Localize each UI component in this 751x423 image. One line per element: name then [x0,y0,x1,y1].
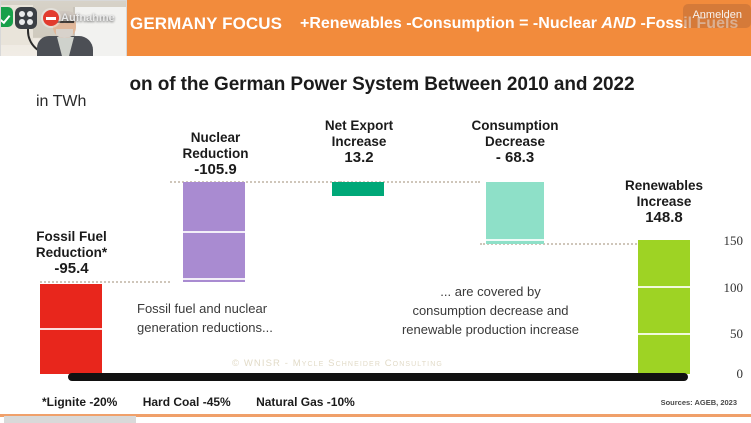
y-tick-0: 0 [737,366,744,382]
sign-in-button[interactable]: Anmelden [683,4,751,28]
bar-value-nuclear-reduction: -105.9 [158,162,273,178]
annotation-left-line1: Fossil fuel and nuclear [137,301,267,316]
bar-label-line1: Fossil Fuel [36,229,107,244]
record-icon[interactable] [43,10,59,26]
check-icon[interactable] [0,7,13,27]
bar-label-line1: Nuclear [191,130,241,145]
annotation-right-line2: consumption decrease and [412,303,568,318]
bottom-tab-placeholder[interactable] [4,416,136,423]
footnote-lignite: *Lignite -20% [42,395,117,409]
bar-label-line2: Reduction* [36,245,107,260]
bar-value-renewables-increase: 148.8 [600,210,728,226]
grid-dot [27,19,33,25]
bar-label-line2: Reduction [183,146,249,161]
annotation-right-line3: renewable production increase [402,322,579,337]
bar-gridline [40,328,102,330]
grid-dot [27,11,33,17]
bar-gridline [183,231,245,233]
bar-gridline [486,239,544,241]
bar-gridline [638,286,690,288]
bar-gridline [638,333,690,335]
bar-net-export-increase[interactable] [332,182,384,196]
bar-label-net-export-increase: Net Export Increase 13.2 [300,118,418,166]
sources-label: Sources: AGEB, 2023 [661,398,737,407]
footnote-hard-coal: Hard Coal -45% [143,395,231,409]
annotation-left-line2: generation reductions... [137,320,273,335]
banner-equation: +Renewables -Consumption = -Nuclear AND … [300,15,738,33]
annotation-left: Fossil fuel and nuclear generation reduc… [137,299,337,337]
footnote-natural-gas: Natural Gas -10% [256,395,355,409]
bar-value-net-export-increase: 13.2 [300,150,418,166]
bar-label-line2: Increase [332,134,387,149]
equation-pre: +Renewables -Consumption = -Nuclear [300,15,601,32]
bar-label-consumption-decrease: Consumption Decrease - 68.3 [450,118,580,166]
bar-label-line1: Consumption [472,118,559,133]
bar-value-fossil-fuel-reduction: -95.4 [14,261,129,277]
connector-fossil-to-nuclear [40,281,170,283]
bar-renewables-increase[interactable] [638,240,690,374]
bar-label-line2: Decrease [485,134,545,149]
grid-dot [19,11,25,17]
bar-label-renewables-increase: Renewables Increase 148.8 [600,178,728,226]
annotation-right: ... are covered by consumption decrease … [378,282,603,339]
bar-consumption-decrease[interactable] [486,182,544,244]
annotation-right-line1: ... are covered by [440,284,540,299]
banner-focus-label: GERMANY FOCUS [130,14,282,34]
grid-icon[interactable] [15,7,37,29]
bar-gridline [183,278,245,280]
y-tick-50: 50 [730,326,743,342]
bar-value-consumption-decrease: - 68.3 [450,150,580,166]
grid-dot [19,19,25,25]
chart-watermark: © WNISR - Mycle Schneider Consulting [232,358,443,369]
bar-nuclear-reduction[interactable] [183,182,245,282]
y-tick-100: 100 [724,280,744,296]
bar-label-fossil-fuel-reduction: Fossil Fuel Reduction* -95.4 [14,229,129,277]
speaker-beard [56,29,73,38]
bar-label-nuclear-reduction: Nuclear Reduction -105.9 [158,130,273,178]
bar-label-line2: Increase [637,194,692,209]
chart-baseline [68,373,688,381]
bar-fossil-fuel-reduction[interactable] [40,284,102,374]
waterfall-chart: Fossil Fuel Reduction* -95.4 Nuclear Red… [0,56,751,386]
bar-label-line1: Renewables [625,178,703,193]
y-tick-150: 150 [724,233,744,249]
equation-italic: AND [601,15,636,32]
recording-label: Aufnahme [61,12,115,24]
bar-label-line1: Net Export [325,118,393,133]
footnote-row: *Lignite -20% Hard Coal -45% Natural Gas… [42,395,377,409]
